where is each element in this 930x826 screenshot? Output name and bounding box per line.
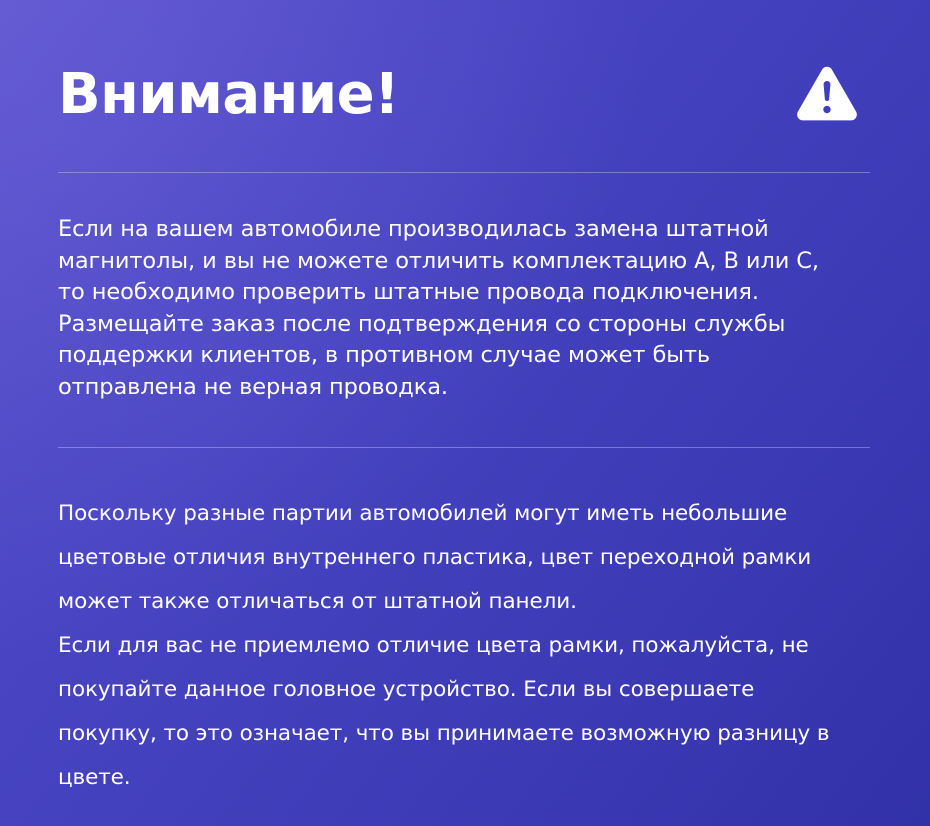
divider-top [58, 172, 870, 173]
paragraph-one: Если на вашем автомобиле производилась з… [58, 214, 888, 403]
page-title: Внимание! [58, 67, 399, 123]
paragraph-two-line: цветовые отличия внутреннего пластика, ц… [58, 536, 888, 580]
paragraph-three-line: покупайте данное головное устройство. Ес… [58, 668, 888, 712]
banner-header: Внимание! [58, 52, 870, 138]
paragraph-one-line: Размещайте заказ после подтверждения со … [58, 309, 888, 341]
paragraph-one-line: Если на вашем автомобиле производилась з… [58, 214, 888, 246]
paragraph-two-line: Поскольку разные партии автомобилей могу… [58, 492, 888, 536]
paragraph-one-line: поддержки клиентов, в противном случае м… [58, 340, 888, 372]
paragraph-three: Если для вас не приемлемо отличие цвета … [58, 624, 888, 800]
paragraph-one-line: то необходимо проверить штатные провода … [58, 277, 888, 309]
paragraph-three-line: Если для вас не приемлемо отличие цвета … [58, 624, 888, 668]
paragraph-two: Поскольку разные партии автомобилей могу… [58, 492, 888, 624]
paragraph-one-line: отправлена не верная проводка. [58, 372, 888, 404]
paragraph-one-line: магнитолы, и вы не можете отличить компл… [58, 246, 888, 278]
warning-banner: Внимание! Если на вашем автомобиле произ… [0, 0, 930, 826]
warning-triangle-icon [796, 65, 858, 125]
paragraph-three-line: покупку, то это означает, что вы принима… [58, 712, 888, 756]
divider-middle [58, 447, 870, 448]
paragraph-three-line: цвете. [58, 756, 888, 800]
paragraph-two-line: может также отличаться от штатной панели… [58, 580, 888, 624]
